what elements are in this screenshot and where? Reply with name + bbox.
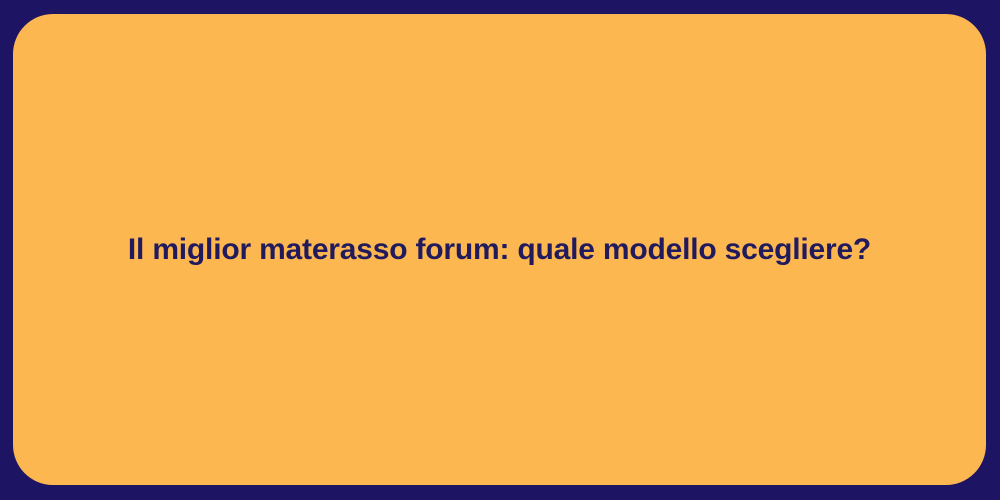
page-title: Il miglior materasso forum: quale modell… [88,231,911,269]
card-panel: Il miglior materasso forum: quale modell… [13,14,986,485]
banner-frame: Il miglior materasso forum: quale modell… [0,0,1000,500]
